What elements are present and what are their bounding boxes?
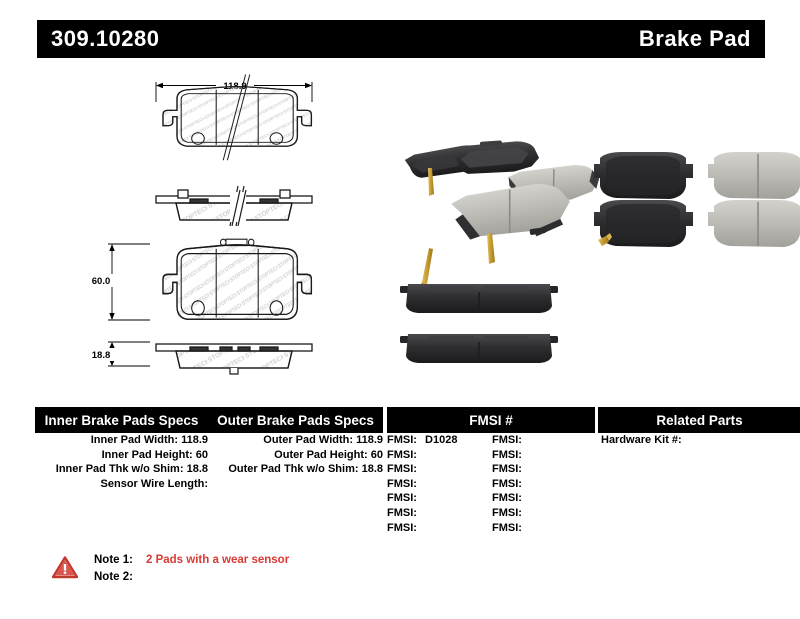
- spec-value: 60: [196, 449, 208, 461]
- spec-label: Inner Pad Width:: [91, 434, 178, 446]
- spec-row: Outer Pad Width: 118.9: [212, 433, 383, 448]
- note-label: Note 1:: [94, 552, 146, 569]
- fmsi-row: FMSI:: [387, 477, 457, 492]
- fmsi-label: FMSI:: [387, 478, 417, 490]
- spec-label: Inner Pad Height:: [102, 449, 193, 461]
- part-number: 309.10280: [51, 26, 160, 52]
- fmsi-label: FMSI:: [387, 507, 417, 519]
- fmsi-label: FMSI:: [492, 478, 522, 490]
- spec-label: Outer Pad Width:: [263, 434, 353, 446]
- spec-label: Outer Pad Height:: [274, 449, 368, 461]
- drawing-edge-view-bottom: 18.8: [84, 342, 312, 374]
- svg-text:60.0: 60.0: [92, 276, 111, 287]
- spec-value: 118.9: [181, 434, 208, 446]
- fmsi-row: FMSI:: [387, 491, 457, 506]
- fmsi-row: FMSI:: [492, 433, 527, 448]
- fmsi-row: FMSI:: [387, 448, 457, 463]
- header-fmsi: FMSI #: [387, 407, 595, 433]
- specifications-table: Inner Brake Pads Specs Outer Brake Pads …: [35, 407, 766, 542]
- column-title-outer: Outer Brake Pads Specs: [208, 413, 383, 428]
- product-artwork: STOPTECH STOPTECH 118: [0, 58, 800, 388]
- drawing-front-view-top: 118.9: [156, 74, 312, 160]
- photo-pads-edge: [400, 248, 558, 370]
- fmsi-label: FMSI:: [387, 492, 417, 504]
- inner-specs-body: Inner Pad Width: 118.9 Inner Pad Height:…: [35, 433, 208, 491]
- fmsi-column-left: FMSI: D1028 FMSI: FMSI: FMSI: FMSI: FMSI…: [387, 433, 457, 535]
- notes-section: Note 1: 2 Pads with a wear sensor Note 2…: [52, 552, 452, 602]
- spec-row: Sensor Wire Length:: [35, 477, 208, 492]
- drawing-edge-view-top: [156, 186, 312, 226]
- fmsi-row: FMSI:: [492, 462, 527, 477]
- spec-label: Sensor Wire Length:: [101, 478, 208, 490]
- fmsi-label: FMSI:: [492, 492, 522, 504]
- spec-value: 18.8: [187, 463, 208, 475]
- spec-row: Outer Pad Thk w/o Shim: 18.8: [212, 462, 383, 477]
- related-label: Hardware Kit #:: [601, 434, 682, 446]
- outer-specs-body: Outer Pad Width: 118.9 Outer Pad Height:…: [212, 433, 383, 477]
- drawing-front-view-lower: 60.0: [84, 239, 311, 320]
- fmsi-label: FMSI:: [387, 463, 417, 475]
- spec-label: Outer Pad Thk w/o Shim:: [228, 463, 358, 475]
- fmsi-column-right: FMSI: FMSI: FMSI: FMSI: FMSI: FMSI: FMSI…: [492, 433, 527, 535]
- header-inner-outer-specs: Inner Brake Pads Specs Outer Brake Pads …: [35, 407, 383, 433]
- warning-triangle-icon: [52, 556, 78, 579]
- column-title-fmsi: FMSI #: [469, 413, 513, 428]
- fmsi-row: FMSI:: [492, 521, 527, 536]
- fmsi-label: FMSI:: [387, 449, 417, 461]
- fmsi-label: FMSI:: [387, 434, 417, 446]
- fmsi-row: FMSI:: [387, 521, 457, 536]
- spec-value: 60: [371, 449, 383, 461]
- note-label: Note 2:: [94, 569, 146, 586]
- fmsi-row: FMSI:: [492, 448, 527, 463]
- fmsi-row: FMSI:: [387, 462, 457, 477]
- product-type: Brake Pad: [639, 26, 751, 52]
- header-related-parts: Related Parts: [598, 407, 800, 433]
- note-item: Note 1: 2 Pads with a wear sensor: [94, 552, 289, 569]
- note-item: Note 2:: [94, 569, 289, 586]
- photo-pads-angled: [404, 138, 601, 264]
- spec-row: Inner Pad Width: 118.9: [35, 433, 208, 448]
- spec-row: Inner Pad Height: 60: [35, 448, 208, 463]
- column-title-related: Related Parts: [656, 413, 742, 428]
- spec-row: Outer Pad Height: 60: [212, 448, 383, 463]
- fmsi-row: FMSI:: [492, 506, 527, 521]
- column-title-inner: Inner Brake Pads Specs: [35, 413, 208, 428]
- title-bar: 309.10280 Brake Pad: [37, 20, 765, 58]
- fmsi-row: FMSI:: [492, 491, 527, 506]
- fmsi-label: FMSI:: [492, 434, 522, 446]
- related-row: Hardware Kit #:: [601, 433, 687, 448]
- spec-label: Inner Pad Thk w/o Shim:: [56, 463, 184, 475]
- fmsi-label: FMSI:: [492, 522, 522, 534]
- fmsi-label: FMSI:: [387, 522, 417, 534]
- fmsi-row: FMSI: D1028: [387, 433, 457, 448]
- fmsi-label: FMSI:: [492, 463, 522, 475]
- related-parts-body: Hardware Kit #:: [601, 433, 687, 448]
- note-list: Note 1: 2 Pads with a wear sensor Note 2…: [94, 552, 289, 586]
- spec-value: 118.9: [356, 434, 383, 446]
- note-text: 2 Pads with a wear sensor: [146, 552, 289, 569]
- fmsi-label: FMSI:: [492, 449, 522, 461]
- spec-value: 18.8: [362, 463, 383, 475]
- fmsi-row: FMSI:: [492, 477, 527, 492]
- fmsi-row: FMSI:: [387, 506, 457, 521]
- photo-pads-flat: [594, 152, 800, 247]
- fmsi-value: D1028: [425, 434, 457, 446]
- spec-row: Inner Pad Thk w/o Shim: 18.8: [35, 462, 208, 477]
- svg-text:18.8: 18.8: [92, 350, 111, 361]
- fmsi-label: FMSI:: [492, 507, 522, 519]
